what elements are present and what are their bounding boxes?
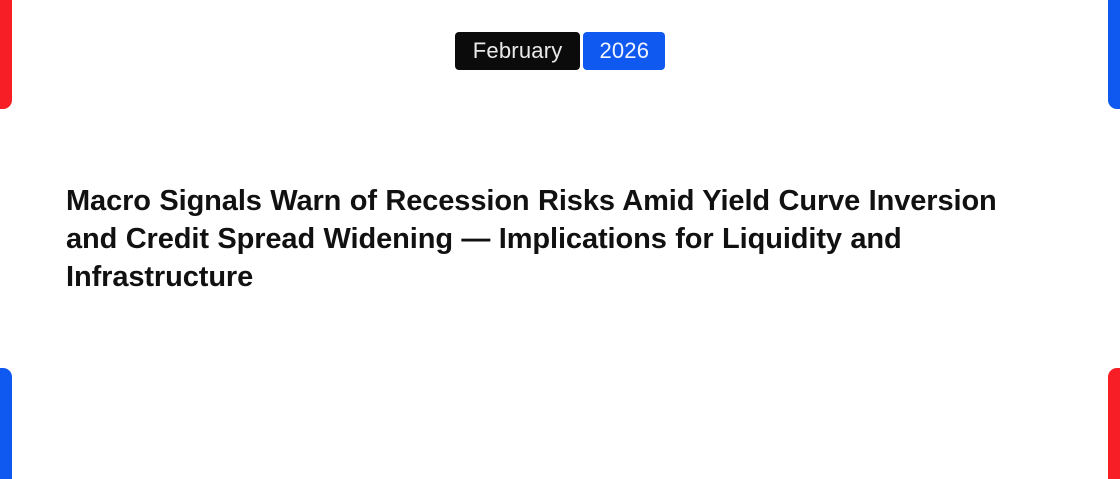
corner-accent-bottom-right [1108,368,1120,479]
year-badge: 2026 [583,32,665,70]
poster-canvas: February 2026 Macro Signals Warn of Rece… [0,0,1120,479]
corner-accent-bottom-left [0,368,12,479]
date-badge-group: February 2026 [0,32,1120,70]
month-badge: February [455,32,581,70]
page-title: Macro Signals Warn of Recession Risks Am… [66,182,1056,296]
